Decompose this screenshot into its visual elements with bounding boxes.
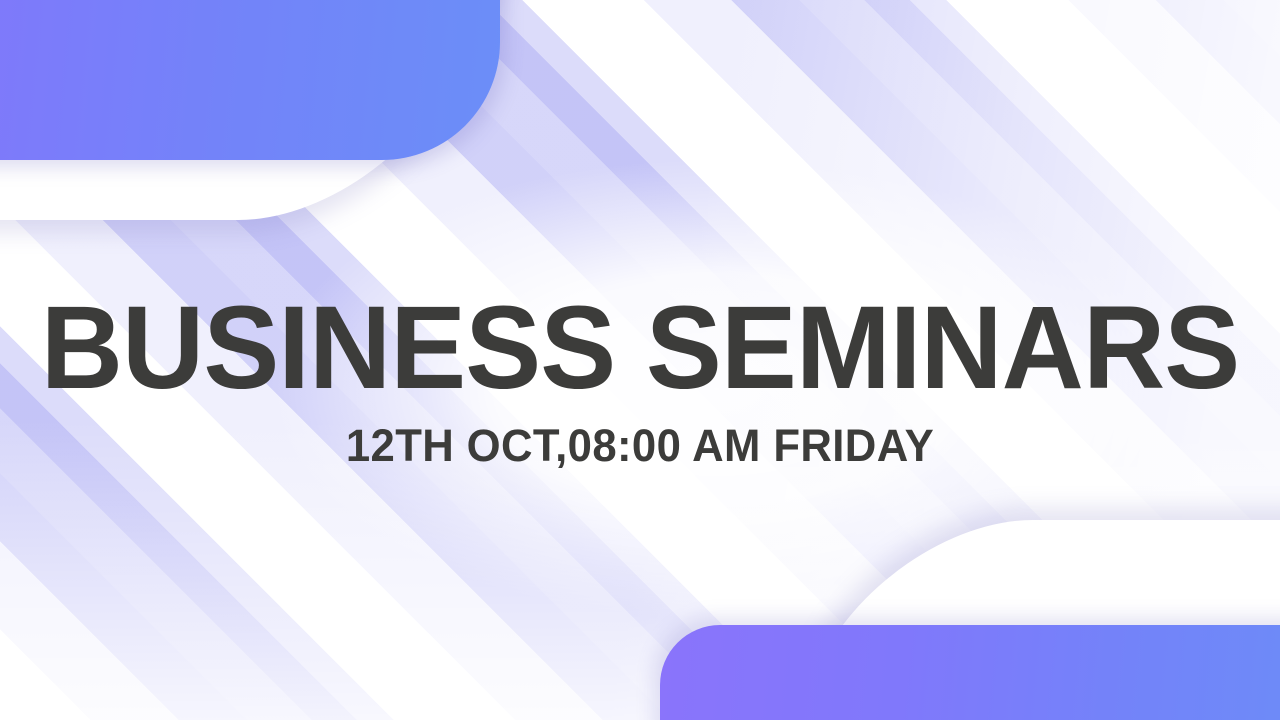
- event-datetime: 12TH OCT,08:00 AM FRIDAY: [19, 422, 1261, 469]
- page-title: BUSINESS SEMINARS: [22, 288, 1257, 408]
- poster-text-block: BUSINESS SEMINARS 12TH OCT,08:00 AM FRID…: [0, 288, 1280, 470]
- event-poster: BUSINESS SEMINARS 12TH OCT,08:00 AM FRID…: [0, 0, 1280, 720]
- top-left-gradient-shape: [0, 0, 500, 160]
- bottom-right-gradient-shape: [660, 625, 1280, 720]
